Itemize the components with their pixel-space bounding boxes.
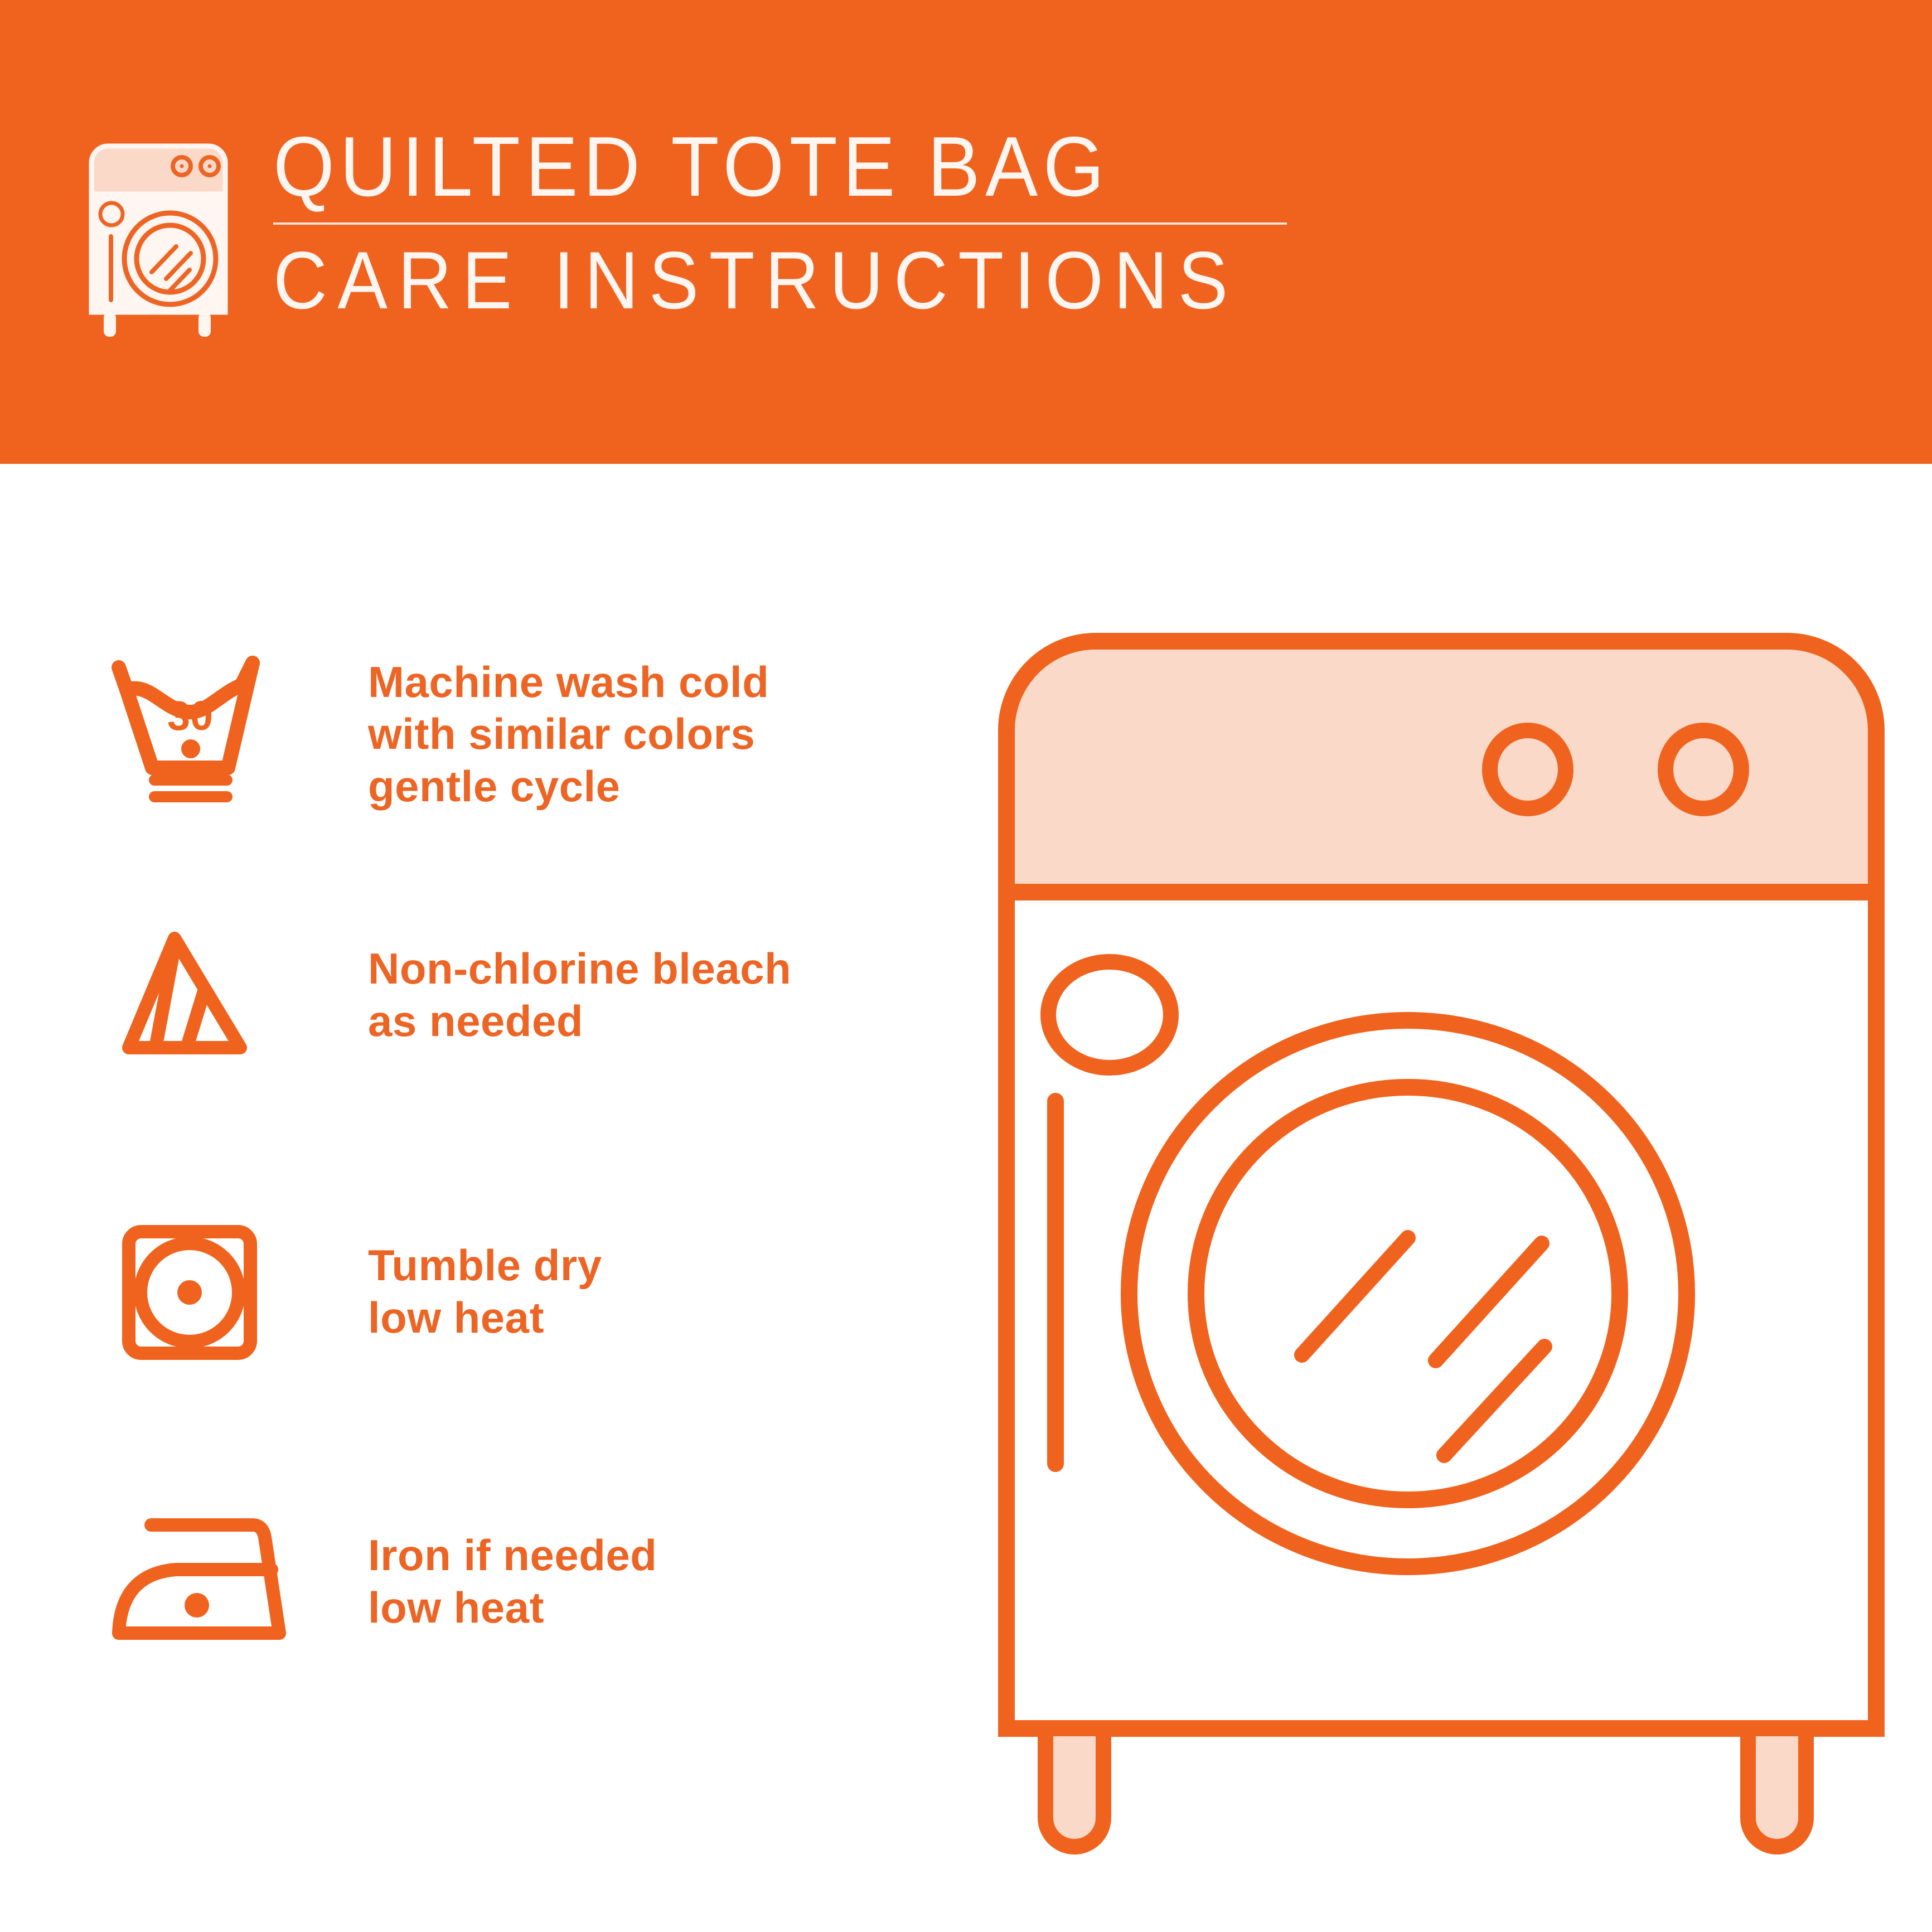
care-label-machine-wash: Machine wash cold with similar colors ge… bbox=[368, 656, 769, 813]
care-row-tumble-dry: Tumble dry low heat bbox=[95, 1200, 602, 1384]
page-subtitle: CARE INSTRUCTIONS bbox=[273, 239, 1238, 322]
wash-temperature-value: 30 bbox=[167, 693, 213, 739]
header-content: QUILTED TOTE BAG CARE INSTRUCTIONS bbox=[84, 124, 1322, 338]
tumble-dry-low-icon bbox=[95, 1200, 307, 1384]
care-instructions-page: QUILTED TOTE BAG CARE INSTRUCTIONS 30 bbox=[0, 0, 1932, 1932]
header-title-block: QUILTED TOTE BAG CARE INSTRUCTIONS bbox=[273, 124, 1322, 322]
care-row-bleach: Non-chlorine bleach as needed bbox=[95, 903, 791, 1087]
title-divider bbox=[273, 222, 1287, 225]
iron-low-heat-icon bbox=[95, 1490, 307, 1674]
care-label-bleach: Non-chlorine bleach as needed bbox=[368, 943, 791, 1047]
washing-machine-illustration bbox=[967, 602, 1915, 1885]
machine-wash-tub-icon: 30 bbox=[95, 642, 307, 826]
care-label-tumble-dry: Tumble dry low heat bbox=[368, 1239, 602, 1344]
care-label-iron: Iron if needed low heat bbox=[368, 1529, 657, 1634]
header-banner: QUILTED TOTE BAG CARE INSTRUCTIONS bbox=[0, 0, 1932, 464]
page-title: QUILTED TOTE BAG bbox=[273, 124, 1249, 210]
washing-machine-icon bbox=[84, 143, 233, 338]
non-chlorine-bleach-triangle-icon bbox=[95, 903, 307, 1087]
main-content: 30 Machine wash cold with similar colors… bbox=[0, 464, 1932, 1932]
care-row-machine-wash: 30 Machine wash cold with similar colors… bbox=[95, 642, 769, 826]
care-row-iron: Iron if needed low heat bbox=[95, 1490, 657, 1674]
